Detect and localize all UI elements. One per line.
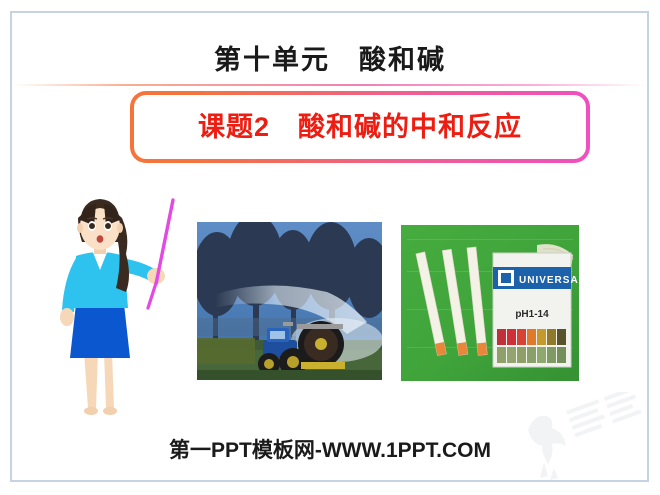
teacher-illustration	[52, 192, 192, 420]
title-divider-rule	[12, 84, 647, 86]
field-spraying-photo	[197, 222, 382, 380]
slide-canvas: 第十单元 酸和碱 课题2 酸和碱的中和反应	[0, 0, 660, 495]
subtitle-box: 课题2 酸和碱的中和反应	[130, 91, 590, 163]
svg-text:pH1-14: pH1-14	[515, 309, 549, 320]
svg-text:UNIVERSAL: UNIVERSAL	[519, 275, 579, 286]
unit-title: 第十单元 酸和碱	[0, 38, 660, 77]
ph-test-strips-photo: UNIVERSAL pH1-14	[401, 225, 579, 381]
subtitle-text: 课题2 酸和碱的中和反应	[198, 114, 522, 141]
footer-watermark-text: 第一PPT模板网-WWW.1PPT.COM	[0, 434, 660, 464]
